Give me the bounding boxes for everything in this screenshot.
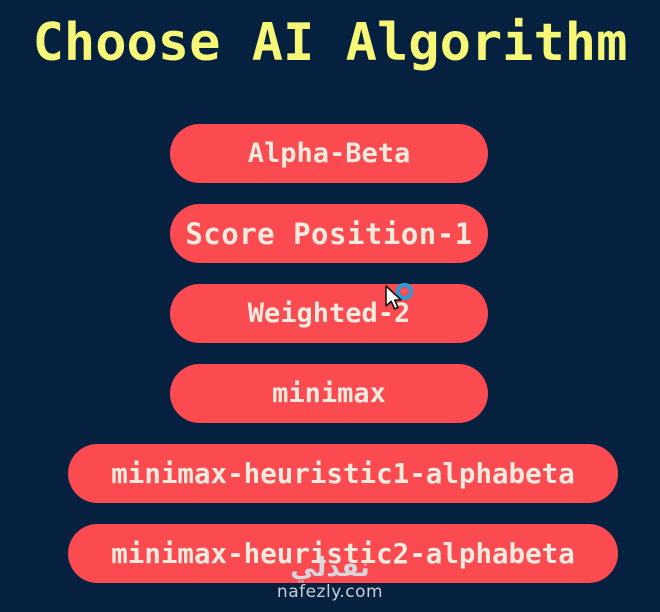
algorithm-button-score-position-1[interactable]: Score Position-1 xyxy=(170,204,488,263)
algorithm-button-label: minimax-heuristic1-alphabeta xyxy=(111,458,575,490)
algorithm-button-alpha-beta[interactable]: Alpha-Beta xyxy=(170,124,488,183)
algorithm-button-label: minimax-heuristic2-alphabeta xyxy=(111,538,575,570)
algorithm-button-minimax[interactable]: minimax xyxy=(170,364,488,423)
algorithm-button-weighted-2[interactable]: Weighted-2 xyxy=(170,284,488,343)
algorithm-button-label: Alpha-Beta xyxy=(248,138,411,169)
app-window: Choose AI Algorithm Alpha-Beta Score Pos… xyxy=(0,0,660,612)
algorithm-button-label: Score Position-1 xyxy=(185,217,472,251)
algorithm-button-label: minimax xyxy=(272,378,386,409)
watermark-domain-text: nafezly.com xyxy=(0,584,660,601)
page-title: Choose AI Algorithm xyxy=(0,12,660,74)
algorithm-button-label: Weighted-2 xyxy=(248,298,411,329)
algorithm-button-minimax-heuristic1-alphabeta[interactable]: minimax-heuristic1-alphabeta xyxy=(68,444,618,503)
algorithm-button-minimax-heuristic2-alphabeta[interactable]: minimax-heuristic2-alphabeta xyxy=(68,524,618,583)
